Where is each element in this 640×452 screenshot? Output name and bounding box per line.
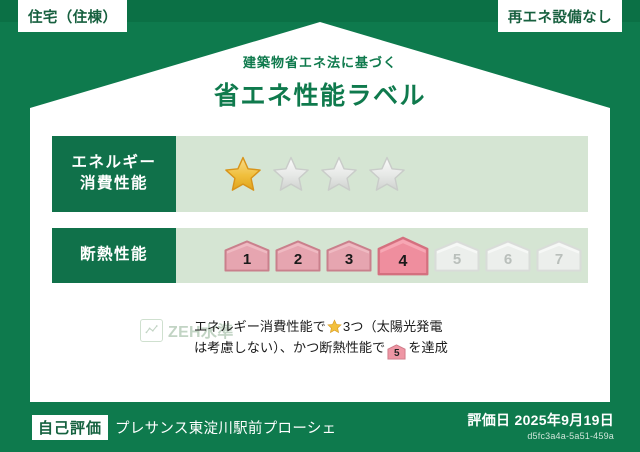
zeh-mark: ZEH水準 — [52, 316, 194, 342]
insulation-level-1: 1 — [224, 240, 270, 272]
zeh-icon — [140, 319, 163, 342]
zeh-description: エネルギー消費性能で 3つ（太陽光発電 は考慮しない）、かつ断熱性能で 5 を達… — [194, 316, 588, 360]
star-filled-icon — [224, 155, 262, 193]
insulation-level-number: 1 — [243, 251, 251, 272]
insulation-level-7: 7 — [536, 240, 582, 272]
insulation-level-scale: 1234567 — [176, 228, 588, 283]
energy-performance-label: エネルギー 消費性能 — [52, 136, 176, 212]
energy-label-line2: 消費性能 — [80, 174, 148, 195]
insulation-level-4: 4 — [377, 236, 429, 276]
star-empty-icon — [368, 155, 406, 193]
title-block: 建築物省エネ法に基づく 省エネ性能ラベル — [0, 52, 640, 112]
insulation-label-text: 断熱性能 — [80, 245, 148, 266]
energy-label-line1: エネルギー — [71, 153, 156, 174]
star-empty-icon — [272, 155, 310, 193]
insulation-level-number: 3 — [345, 251, 353, 272]
insulation-level-number: 5 — [453, 251, 461, 272]
inline-house-number: 5 — [387, 344, 406, 363]
insulation-level-number: 4 — [399, 253, 408, 276]
zeh-desc-part2: 3つ（太陽光発電 — [343, 319, 443, 334]
evaluation-date: 評価日 2025年9月19日 — [467, 412, 614, 430]
insulation-level-2: 2 — [275, 240, 321, 272]
title-subtitle: 建築物省エネ法に基づく — [0, 52, 640, 71]
inline-star-icon — [327, 319, 342, 334]
insulation-level-3: 3 — [326, 240, 372, 272]
energy-star-rating — [176, 136, 588, 212]
energy-performance-label: 住宅（住棟） 再エネ設備なし 建築物省エネ法に基づく 省エネ性能ラベル エネルギ… — [0, 0, 640, 452]
star-empty-icon — [320, 155, 358, 193]
evaluation-id: d5fc3a4a-5a51-459a — [467, 431, 614, 442]
insulation-performance-label: 断熱性能 — [52, 228, 176, 283]
zeh-desc-part4: を達成 — [408, 340, 448, 355]
insulation-level-number: 2 — [294, 251, 302, 272]
zeh-desc-part1: エネルギー消費性能で — [194, 319, 326, 334]
page-title: 省エネ性能ラベル — [0, 76, 640, 112]
badge-renewable-equipment: 再エネ設備なし — [498, 0, 622, 32]
footer-bar: 自己評価 プレサンス東淀川駅前プローシェ 評価日 2025年9月19日 d5fc… — [0, 402, 640, 452]
self-evaluation-badge: 自己評価 — [32, 415, 108, 440]
inline-house-icon: 5 — [387, 344, 406, 360]
badge-building-type: 住宅（住棟） — [18, 0, 127, 32]
insulation-level-number: 6 — [504, 251, 512, 272]
zeh-desc-part3: は考慮しない）、かつ断熱性能で — [194, 340, 385, 355]
insulation-level-number: 7 — [555, 251, 563, 272]
property-name: プレサンス東淀川駅前プローシェ — [115, 417, 336, 438]
insulation-performance-row: 断熱性能 1234567 — [52, 228, 588, 283]
energy-performance-row: エネルギー 消費性能 — [52, 136, 588, 212]
insulation-level-5: 5 — [434, 240, 480, 272]
insulation-level-6: 6 — [485, 240, 531, 272]
zeh-standard-block: ZEH水準 エネルギー消費性能で 3つ（太陽光発電 は考慮しない）、かつ断熱性能… — [52, 316, 588, 360]
footer-meta: 評価日 2025年9月19日 d5fc3a4a-5a51-459a — [467, 412, 614, 442]
